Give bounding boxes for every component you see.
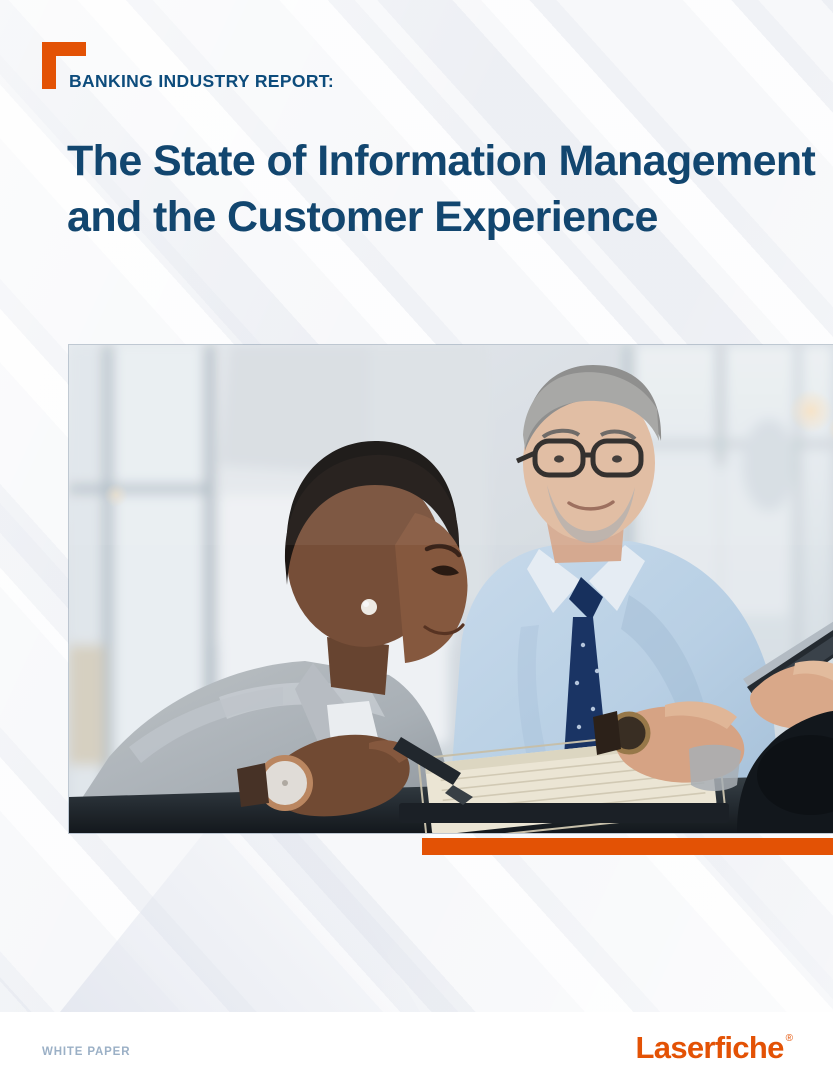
page-title: The State of Information Management and … [67, 133, 827, 245]
corner-bracket-left-arm [42, 42, 56, 89]
orange-accent-bar [422, 838, 833, 855]
laserfiche-logo: Laserfiche ® [636, 1032, 793, 1063]
page-title-line-1: The State of Information Management [67, 133, 827, 189]
footer-document-type-label: WHITE PAPER [42, 1046, 130, 1058]
laserfiche-logo-wordmark: Laserfiche [636, 1032, 784, 1063]
document-cover-page: BANKING INDUSTRY REPORT: The State of In… [0, 0, 833, 1080]
registered-trademark-icon: ® [786, 1034, 793, 1044]
hero-photo [69, 345, 833, 833]
report-category-eyebrow: BANKING INDUSTRY REPORT: [69, 71, 334, 92]
page-title-line-2: and the Customer Experience [67, 189, 827, 245]
